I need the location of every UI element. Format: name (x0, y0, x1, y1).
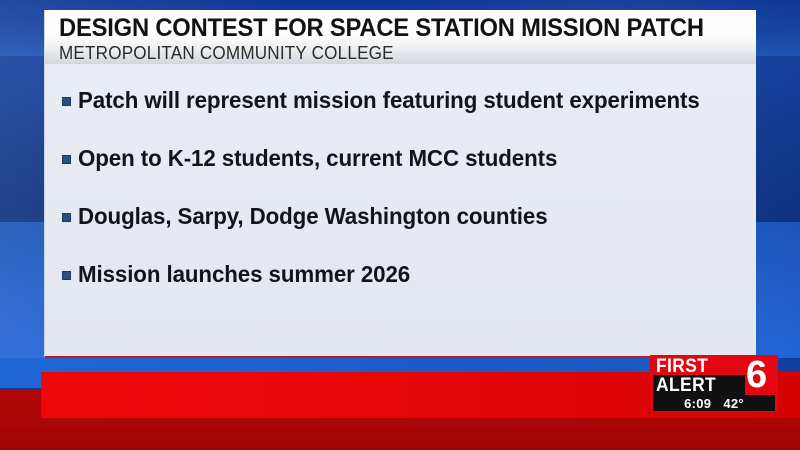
page-title: DESIGN CONTEST FOR SPACE STATION MISSION… (59, 14, 721, 43)
list-item: Mission launches summer 2026 (62, 261, 756, 319)
temperature-reading: 42° (723, 397, 744, 410)
square-bullet-icon (62, 97, 71, 106)
list-item-label: Douglas, Sarpy, Dodge Washington countie… (78, 203, 548, 230)
list-item-label: Open to K-12 students, current MCC stude… (78, 145, 557, 172)
station-bug-info-bar: 6:09 42° (653, 395, 775, 411)
list-item-label: Patch will represent mission featuring s… (78, 87, 700, 114)
list-item-label: Mission launches summer 2026 (78, 261, 410, 288)
list-item: Douglas, Sarpy, Dodge Washington countie… (62, 203, 756, 261)
stripe-red-dark (0, 418, 800, 450)
square-bullet-icon (62, 213, 71, 222)
list-item: Open to K-12 students, current MCC stude… (62, 145, 756, 203)
card-header: DESIGN CONTEST FOR SPACE STATION MISSION… (44, 10, 756, 64)
station-bug: FIRST ALERT 6 6:09 42° (650, 355, 778, 412)
station-bug-first-label: FIRST (656, 357, 708, 376)
broadcast-frame: DESIGN CONTEST FOR SPACE STATION MISSION… (0, 0, 800, 450)
page-subtitle: METROPOLITAN COMMUNITY COLLEGE (59, 43, 721, 64)
list-item: Patch will represent mission featuring s… (62, 87, 756, 145)
square-bullet-icon (62, 271, 71, 280)
station-bug-rows: FIRST ALERT 6 6:09 42° (650, 355, 778, 412)
clock-time: 6:09 (684, 397, 711, 410)
card-body: Patch will represent mission featuring s… (44, 64, 756, 358)
station-bug-channel-number: 6 (746, 355, 767, 395)
station-bug-alert-label: ALERT (656, 376, 716, 395)
news-graphic-card: DESIGN CONTEST FOR SPACE STATION MISSION… (44, 10, 756, 358)
square-bullet-icon (62, 155, 71, 164)
